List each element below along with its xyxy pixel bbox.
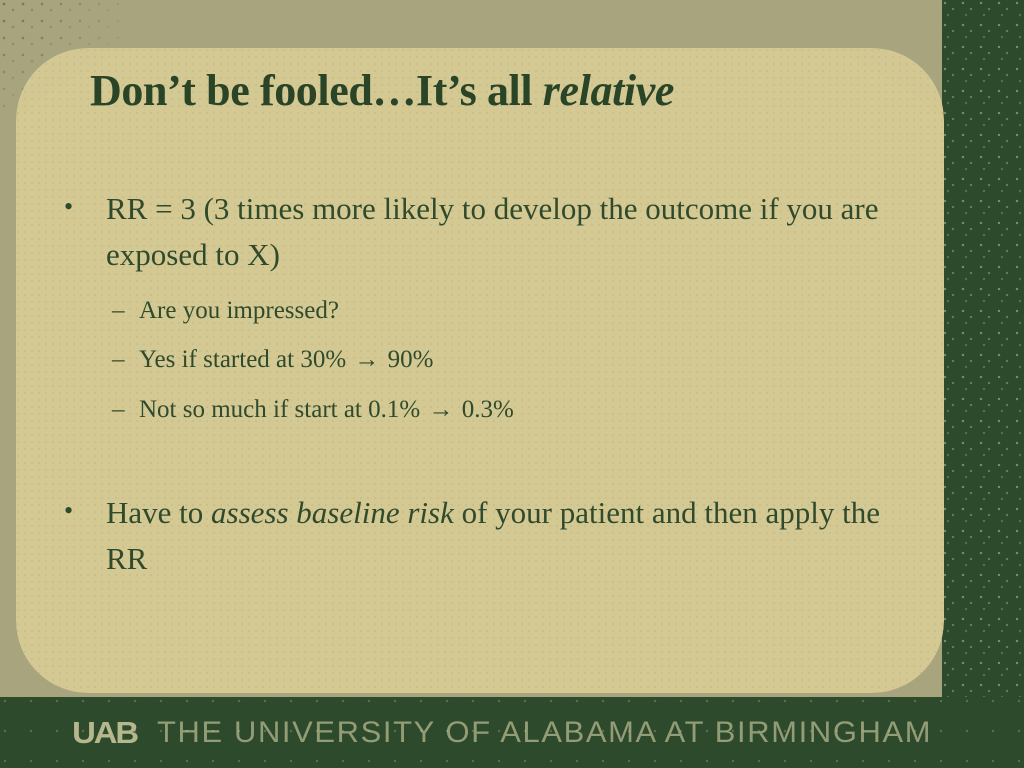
sub-bullet-text: Yes if started at 30% → 90%: [139, 335, 894, 385]
bullet-italic-text: assess baseline risk: [211, 495, 454, 530]
footer-university-name: THE UNIVERSITY OF ALABAMA AT BIRMINGHAM: [157, 716, 932, 750]
sub-bullet-list: – Are you impressed? – Yes if started at…: [112, 286, 894, 435]
right-arrow-icon: →: [426, 396, 455, 423]
title-italic-text: relative: [543, 66, 674, 115]
sub-bullet-text: Not so much if start at 0.1% → 0.3%: [139, 385, 894, 435]
sub-bullet-text: Are you impressed?: [139, 286, 894, 336]
sub-bullet-item: – Are you impressed?: [112, 286, 894, 336]
dash-marker-icon: –: [112, 335, 139, 385]
sub-bullet-pre-text: Not so much if start at 0.1%: [139, 396, 420, 423]
bullet-item: • Have to assess baseline risk of your p…: [64, 490, 894, 582]
bullet-text: Have to assess baseline risk of your pat…: [106, 490, 894, 582]
sub-bullet-item: – Yes if started at 30% → 90%: [112, 335, 894, 385]
page-title: Don’t be fooled…It’s all relative: [90, 66, 890, 117]
bullet-marker-icon: •: [64, 490, 106, 532]
sub-bullet-item: – Not so much if start at 0.1% → 0.3%: [112, 385, 894, 435]
bullet-item: • RR = 3 (3 times more likely to develop…: [64, 186, 894, 278]
bullet-marker-icon: •: [64, 186, 106, 228]
bullet-text: RR = 3 (3 times more likely to develop t…: [106, 186, 894, 278]
bullet-pre-text: Have to: [106, 495, 211, 530]
right-arrow-icon: →: [352, 346, 381, 373]
footer-content: UAB THE UNIVERSITY OF ALABAMA AT BIRMING…: [74, 715, 910, 751]
bullet-spacer: [64, 434, 894, 490]
slide-content: Don’t be fooled…It’s all relative • RR =…: [0, 0, 1024, 768]
dash-marker-icon: –: [112, 286, 139, 336]
footer-bar: UAB THE UNIVERSITY OF ALABAMA AT BIRMING…: [0, 697, 1024, 768]
dash-marker-icon: –: [112, 385, 139, 435]
slide: Don’t be fooled…It’s all relative • RR =…: [0, 0, 1024, 768]
sub-bullet-post-text: 90%: [388, 346, 434, 373]
sub-bullet-post-text: 0.3%: [462, 396, 514, 423]
bullet-list: • RR = 3 (3 times more likely to develop…: [64, 186, 894, 582]
sub-bullet-pre-text: Yes if started at 30%: [139, 346, 346, 373]
uab-logo: UAB: [72, 715, 137, 751]
title-plain-text: Don’t be fooled…It’s all: [90, 66, 543, 115]
